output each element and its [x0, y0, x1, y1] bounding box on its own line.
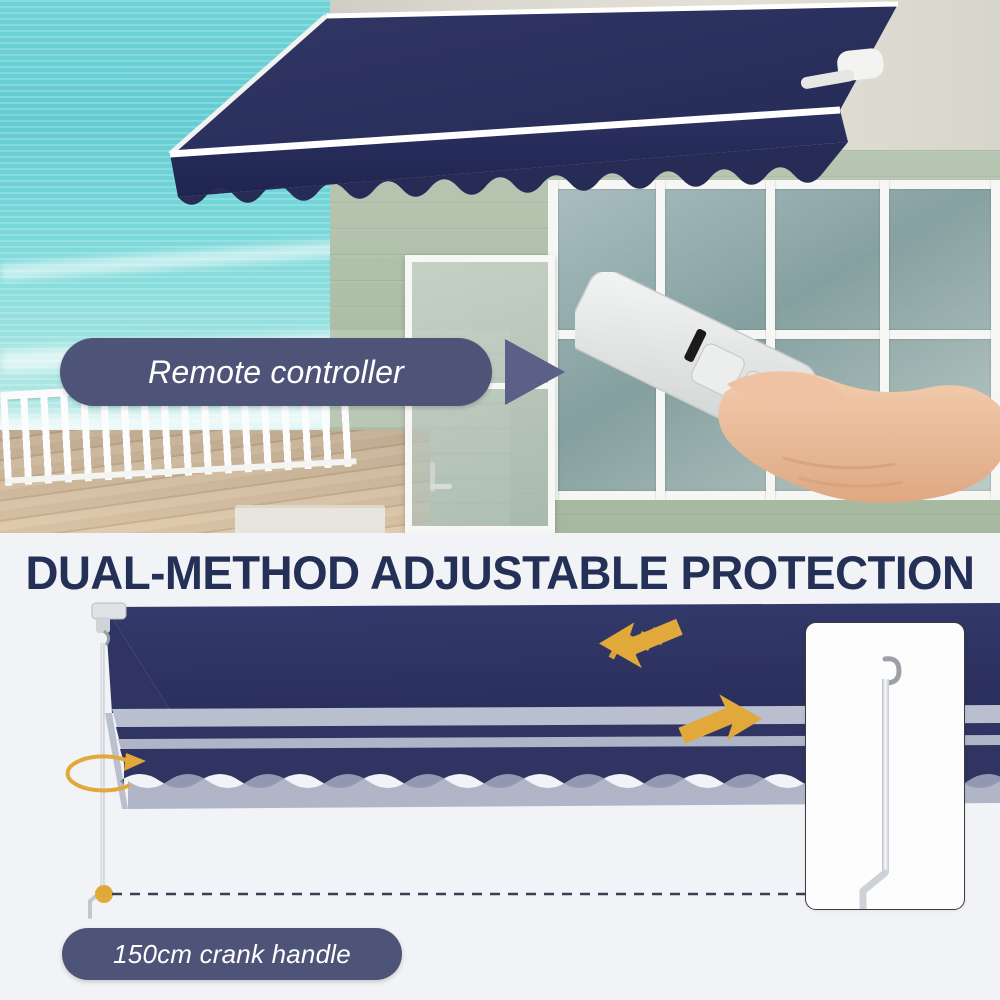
remote-controller-label: Remote controller: [60, 338, 492, 406]
pointer-arrow-icon: [505, 339, 565, 405]
crank-hook-icon: [104, 631, 109, 645]
page-title: DUAL-METHOD ADJUSTABLE PROTECTION: [15, 545, 985, 600]
outdoor-rug: [235, 505, 385, 533]
product-feature-image: Remote controller DUAL-METHOD ADJUSTABLE…: [0, 0, 1000, 1000]
crank-handle-product-inset: [805, 622, 965, 910]
crank-handle-label-text: 150cm crank handle: [113, 939, 351, 970]
door-handle-lever: [430, 484, 452, 489]
awning-wall-bracket: [92, 603, 126, 619]
crank-handle-label: 150cm crank handle: [62, 928, 402, 980]
awning-bracket-base: [96, 617, 110, 633]
hand-holding-remote: [575, 272, 1000, 533]
remote-controller-label-text: Remote controller: [148, 354, 404, 391]
handle-crank-bend: [863, 873, 885, 909]
crank-rod-shaft: [101, 643, 105, 891]
retractable-awning: [58, 0, 898, 292]
crank-handle-illustration: [806, 623, 964, 909]
patio-awning-photo: Remote controller: [0, 0, 1000, 533]
handle-shaft: [882, 679, 889, 873]
crank-knob: [95, 885, 113, 903]
